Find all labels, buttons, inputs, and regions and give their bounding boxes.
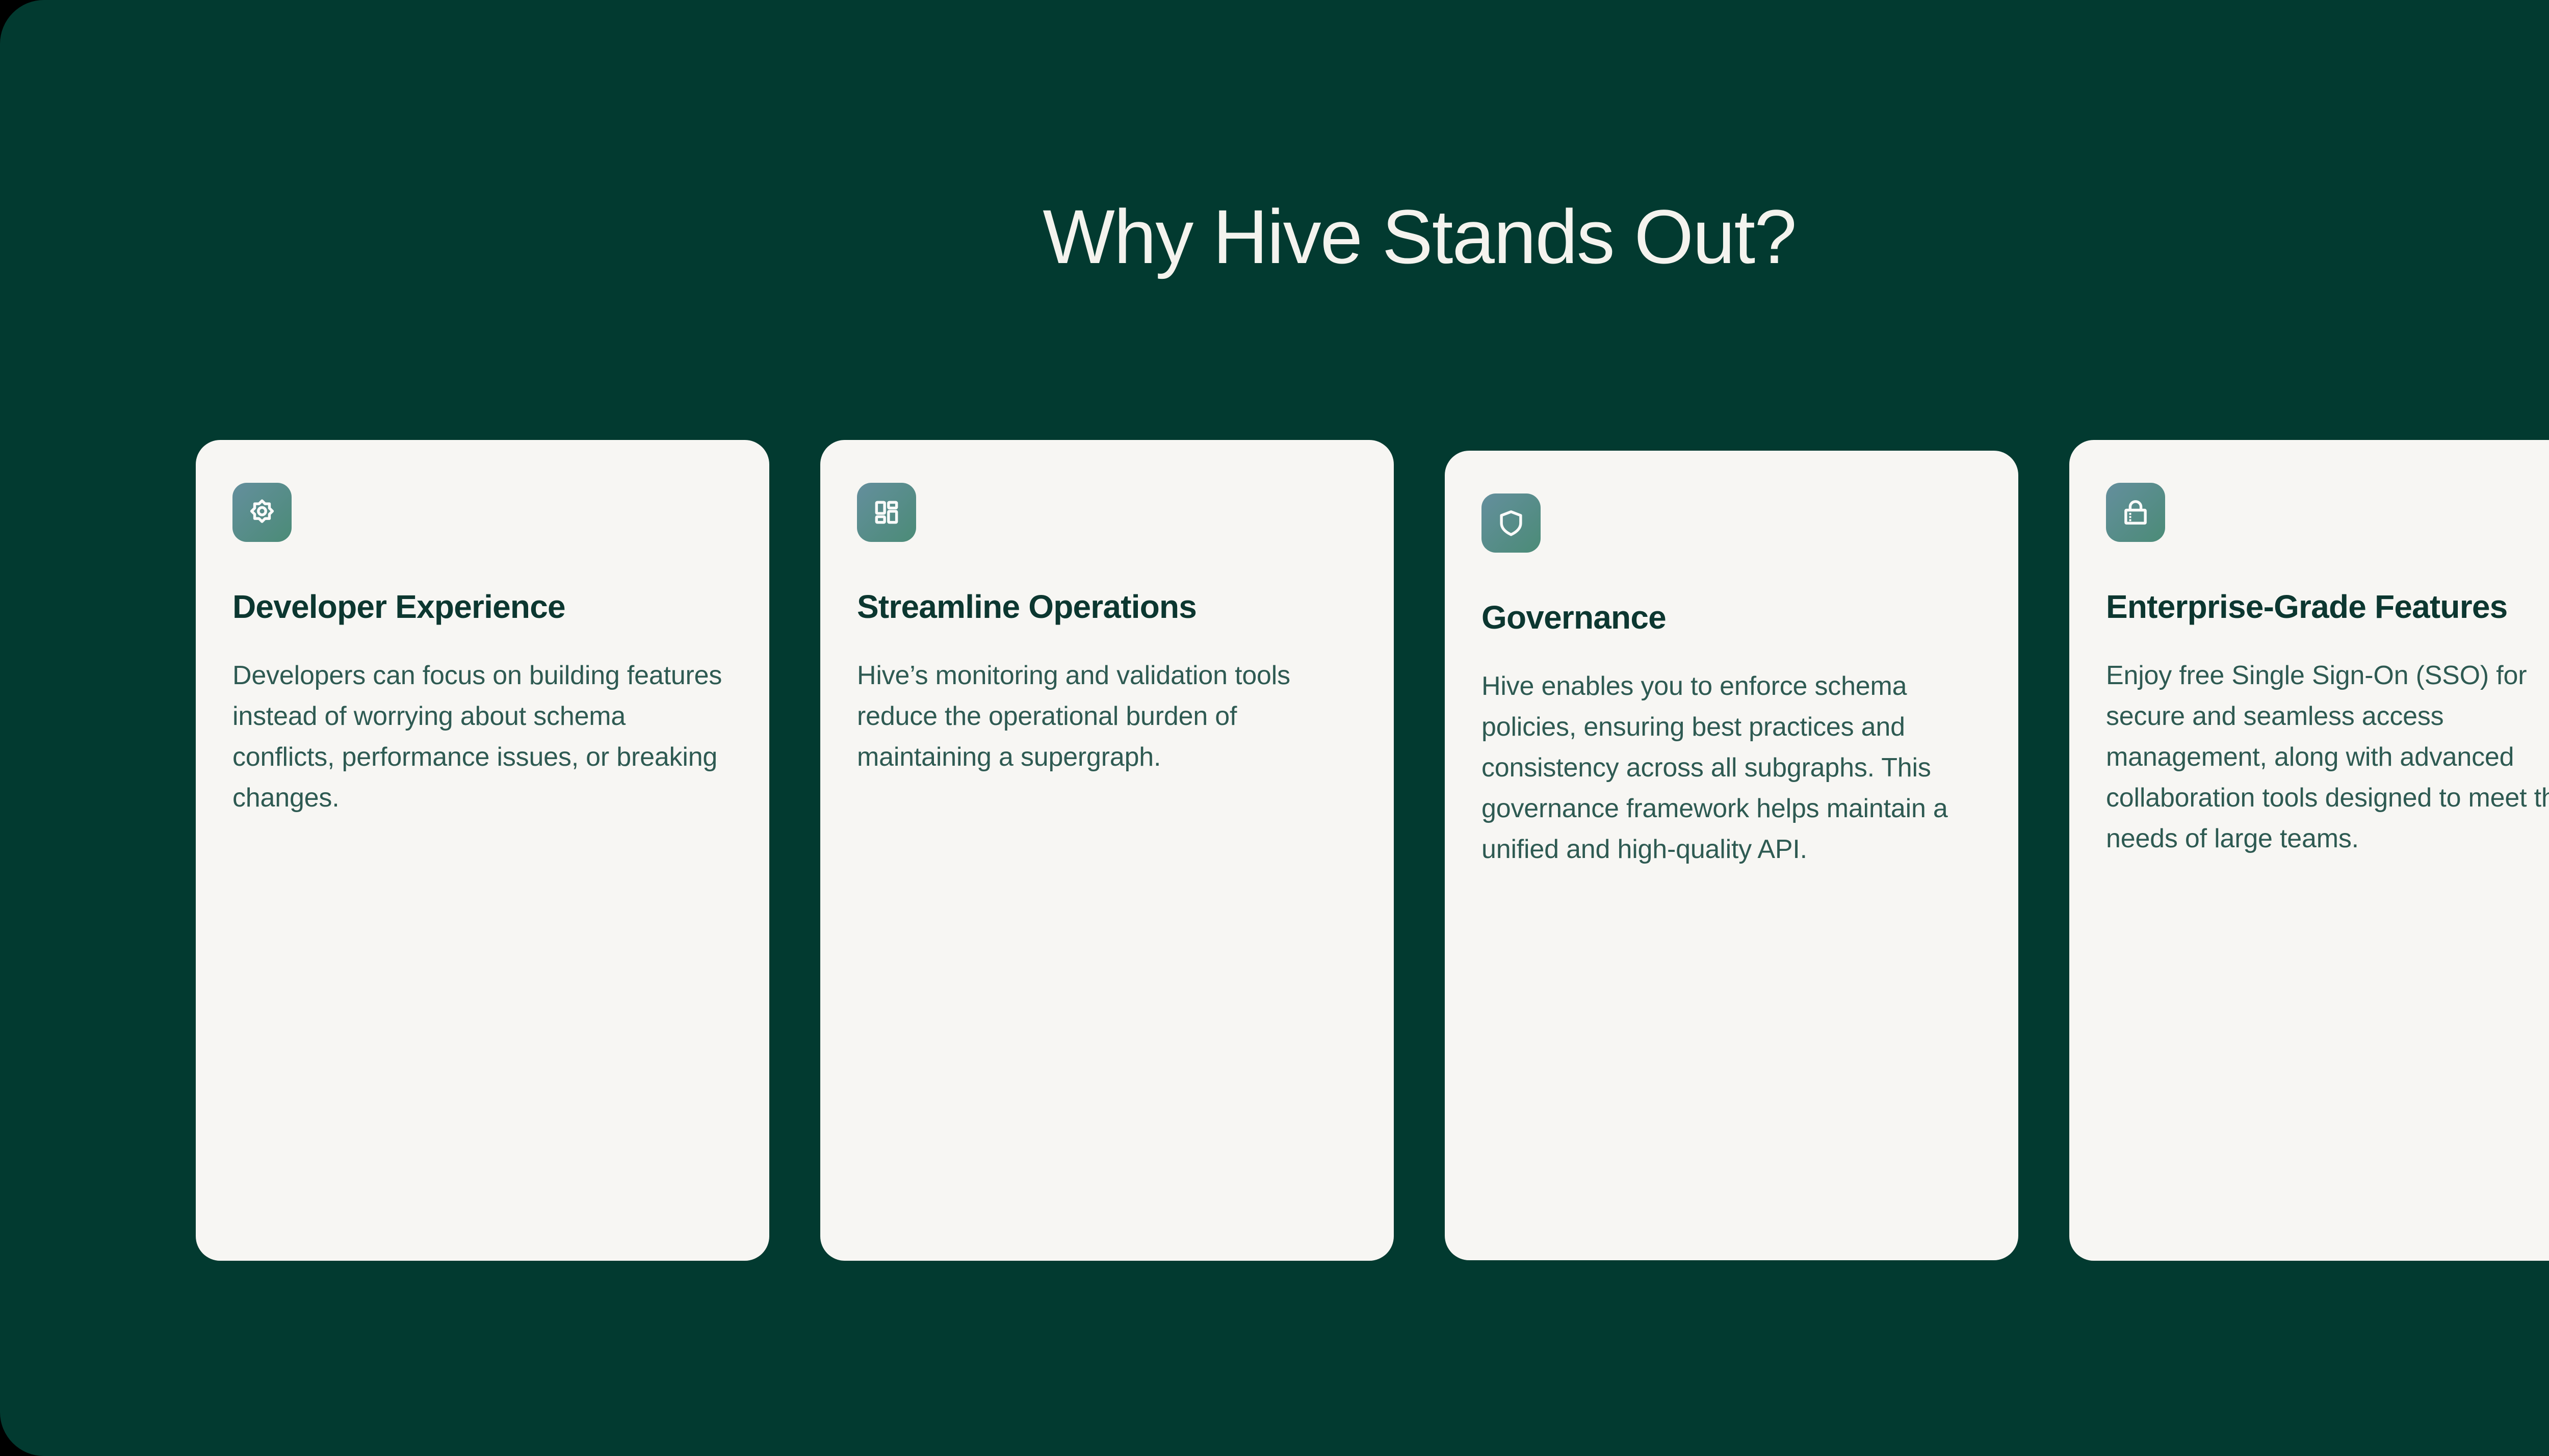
dashboard-grid-icon <box>871 497 902 528</box>
shield-icon <box>1495 507 1527 539</box>
feature-card-developer-experience[interactable]: Developer Experience Developers can focu… <box>196 440 769 1261</box>
page-surface: Why Hive Stands Out? Developer Experienc… <box>0 0 2549 1456</box>
card-body: Enjoy free Single Sign-On (SSO) for secu… <box>2106 655 2549 859</box>
feature-card-governance[interactable]: Governance Hive enables you to enforce s… <box>1445 451 2018 1260</box>
shield-icon-tile <box>1481 493 1541 553</box>
screenshot-stage: Why Hive Stands Out? Developer Experienc… <box>0 0 2549 1456</box>
feature-cards-row: Developer Experience Developers can focu… <box>196 438 2549 1264</box>
page-title: Why Hive Stands Out? <box>0 194 2549 279</box>
card-heading: Streamline Operations <box>857 588 1197 627</box>
card-body: Hive enables you to enforce schema polic… <box>1481 666 1982 870</box>
card-body: Hive’s monitoring and validation tools r… <box>857 655 1357 777</box>
feature-card-streamline-operations[interactable]: Streamline Operations Hive’s monitoring … <box>820 440 1394 1261</box>
card-heading: Enterprise-Grade Features <box>2106 588 2507 627</box>
card-body: Developers can focus on building feature… <box>232 655 733 818</box>
gear-icon-tile <box>232 483 292 542</box>
gear-icon <box>246 497 278 528</box>
dashboard-grid-icon-tile <box>857 483 916 542</box>
card-heading: Developer Experience <box>232 588 565 627</box>
lock-icon-tile <box>2106 483 2165 542</box>
card-heading: Governance <box>1481 599 1666 637</box>
feature-card-enterprise-grade-features[interactable]: Enterprise-Grade Features Enjoy free Sin… <box>2069 440 2549 1261</box>
lock-icon <box>2120 497 2151 528</box>
